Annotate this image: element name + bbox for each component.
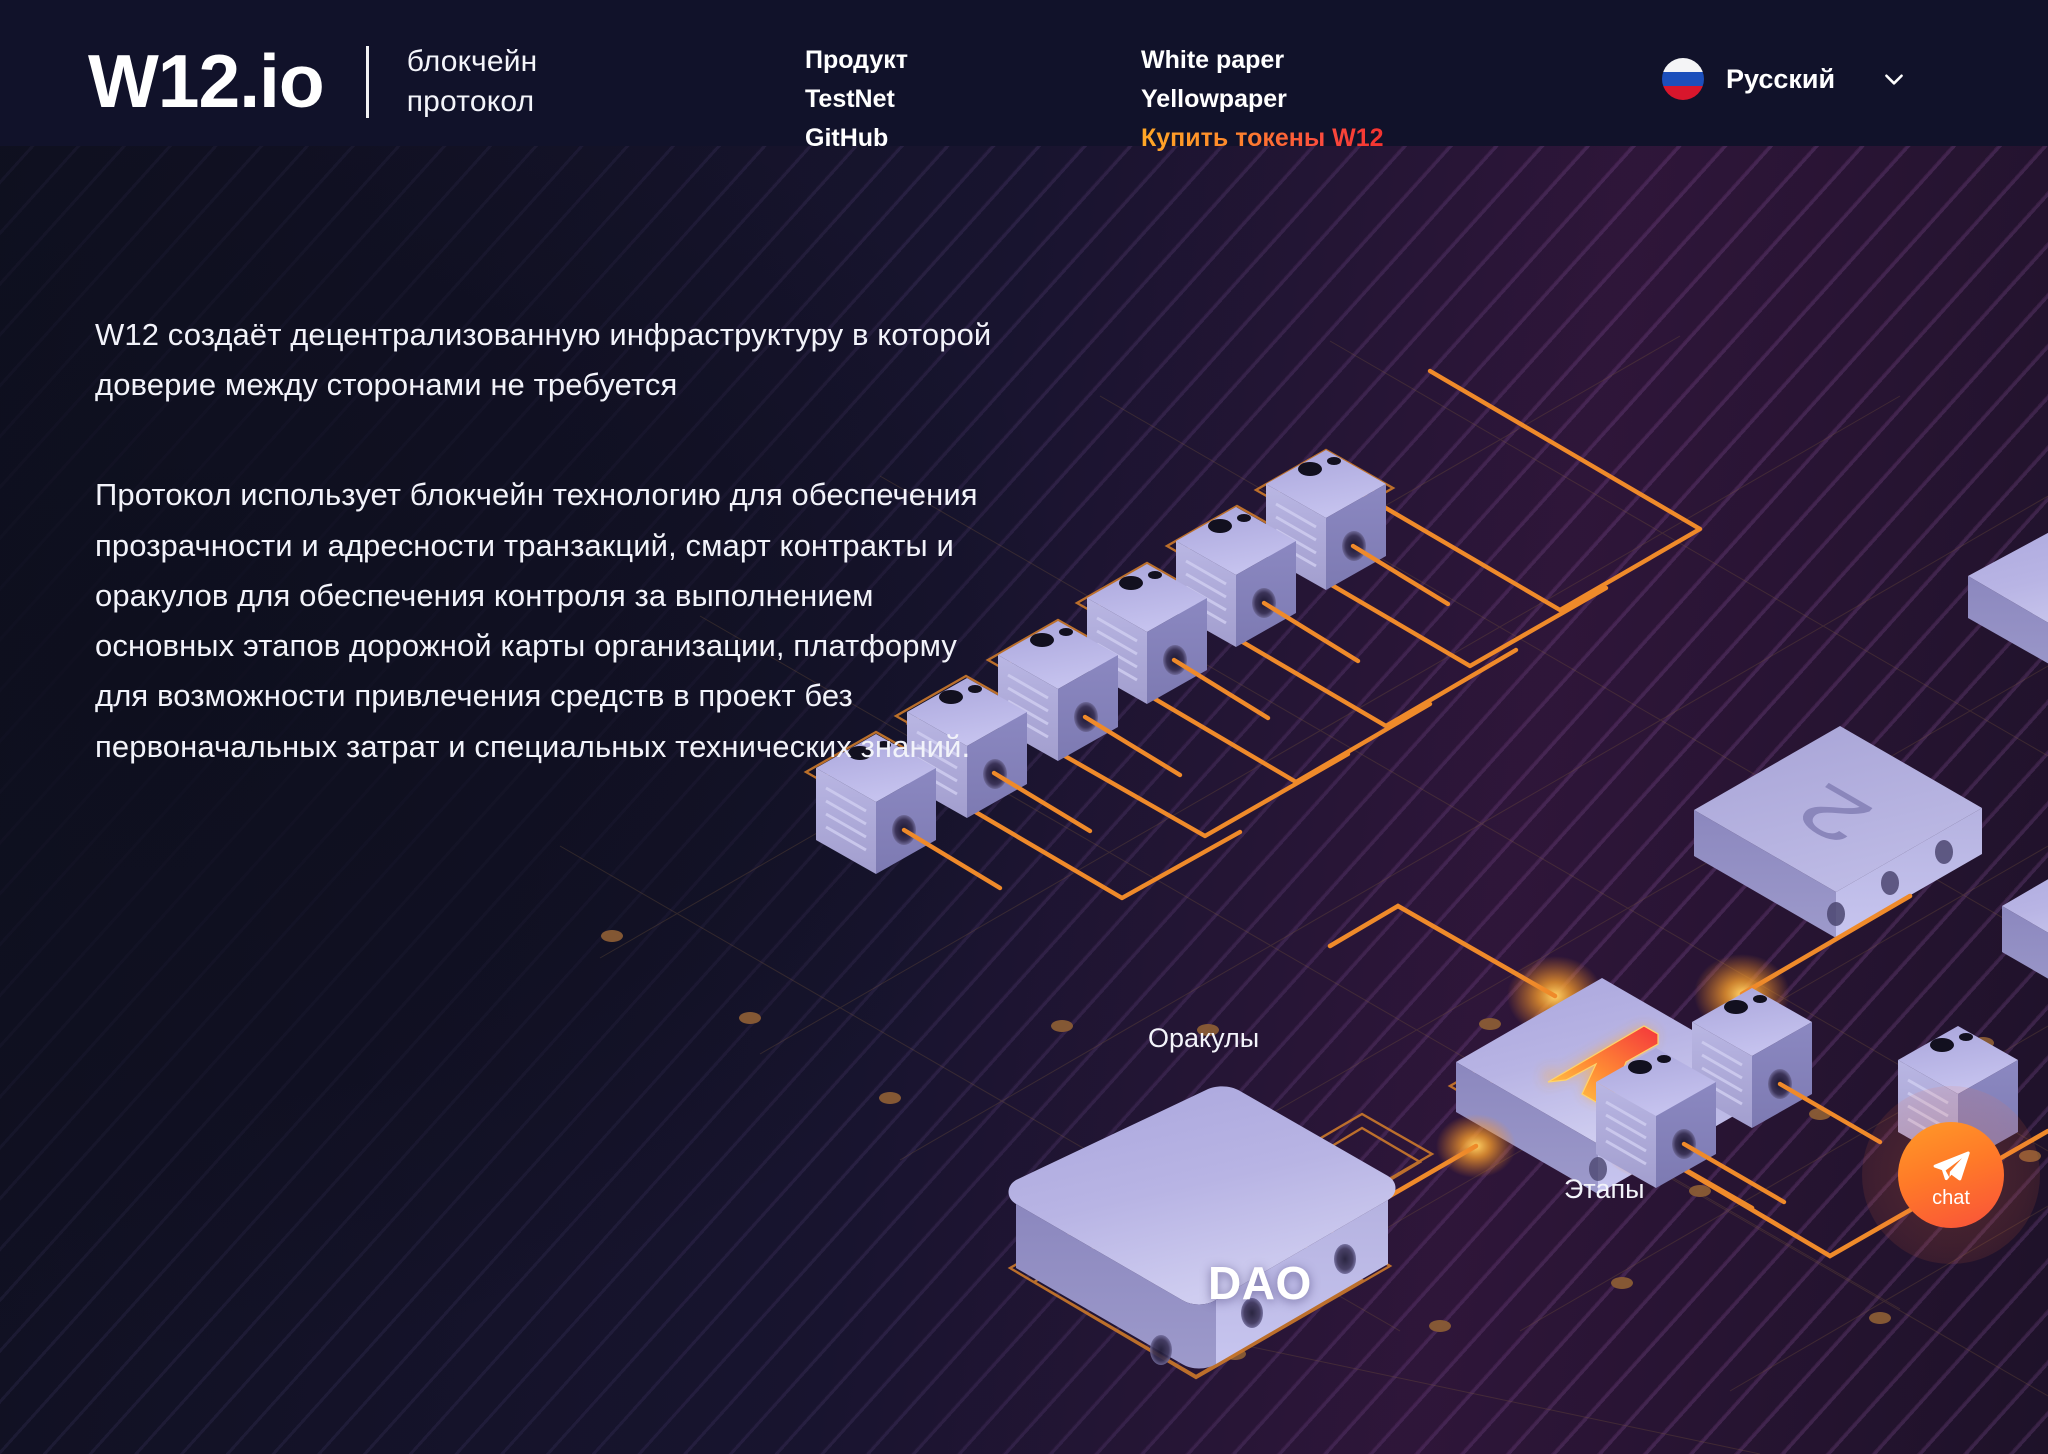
- dao-block-label: DAO: [1208, 1256, 1312, 1310]
- brand-tagline-line-2: протокол: [407, 82, 538, 122]
- chat-button-label: chat: [1932, 1188, 1970, 1208]
- chat-button[interactable]: chat: [1898, 1122, 2004, 1228]
- nav-column-primary: Продукт TestNet GitHub: [805, 48, 908, 151]
- oracles-label-top: Оракулы: [1148, 1023, 1259, 1054]
- nav-column-secondary: White paper Yellowpaper Купить токены W1…: [1141, 48, 1384, 151]
- nav-yellowpaper[interactable]: Yellowpaper: [1141, 87, 1384, 112]
- brand-tagline: блокчейн протокол: [407, 42, 538, 122]
- site-header: W12.io блокчейн протокол Продукт TestNet…: [0, 0, 2048, 146]
- language-selector-label: Русский: [1726, 64, 1835, 95]
- nav-github[interactable]: GitHub: [805, 126, 908, 151]
- hero-paragraph-1: W12 создаёт децентрализованную инфрастру…: [95, 310, 995, 410]
- chevron-down-icon: [1881, 66, 1907, 92]
- russia-flag-icon: [1662, 58, 1704, 100]
- nav-product[interactable]: Продукт: [805, 48, 908, 73]
- hero-copy: W12 создаёт децентрализованную инфрастру…: [95, 310, 995, 772]
- brand-tagline-line-1: блокчейн: [407, 42, 538, 82]
- language-selector[interactable]: Русский: [1662, 58, 1907, 100]
- nav-testnet[interactable]: TestNet: [805, 87, 908, 112]
- logo-divider: [366, 46, 369, 118]
- stages-label: Этапы: [1564, 1174, 1645, 1205]
- brand-logo[interactable]: W12.io блокчейн протокол: [88, 42, 537, 122]
- telegram-paper-plane-icon: [1930, 1148, 1972, 1186]
- hero-paragraph-2: Протокол использует блокчейн технологию …: [95, 470, 995, 771]
- page-root: 2: [0, 0, 2048, 1454]
- nav-white-paper[interactable]: White paper: [1141, 48, 1384, 73]
- nav-buy-tokens[interactable]: Купить токены W12: [1141, 126, 1384, 151]
- logo-wordmark: W12.io: [88, 44, 324, 119]
